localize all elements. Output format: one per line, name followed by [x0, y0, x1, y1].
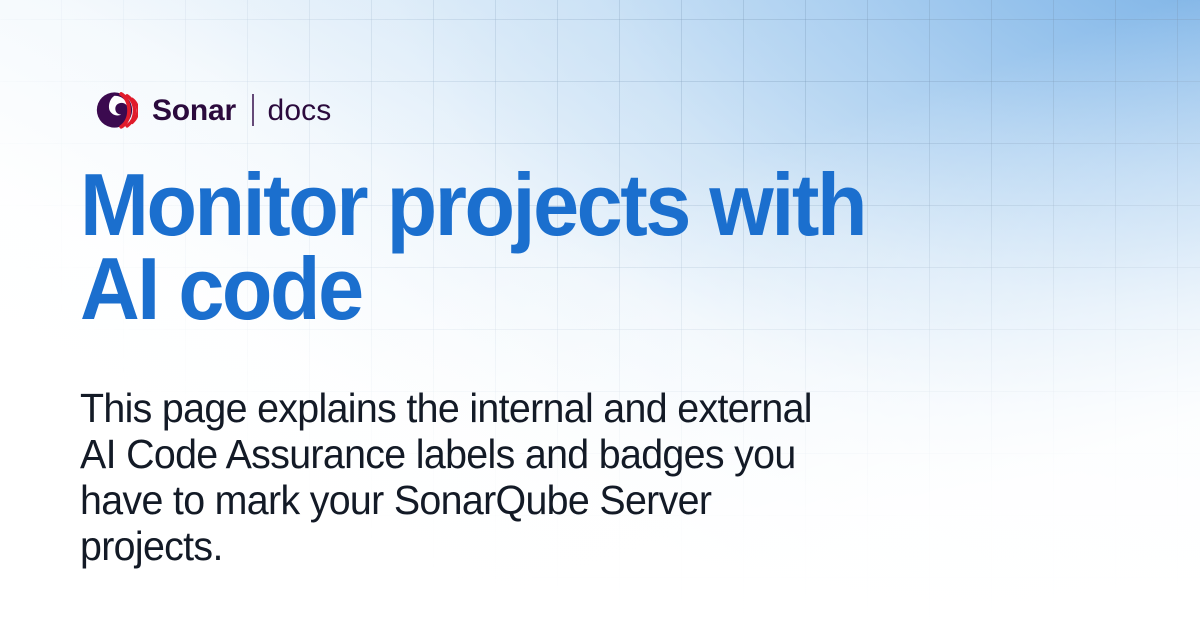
sonar-logo-icon	[96, 89, 138, 131]
social-card: Sonar docs Monitor projects with AI code…	[0, 0, 1200, 630]
brand-section-label: docs	[268, 96, 332, 126]
page-description: This page explains the internal and exte…	[80, 386, 858, 570]
page-title: Monitor projects with AI code	[80, 163, 1029, 332]
brand-divider	[252, 94, 254, 126]
brand-wordmark: Sonar	[152, 96, 236, 126]
card-content: Sonar docs Monitor projects with AI code…	[0, 0, 1200, 630]
brand-lockup[interactable]: Sonar docs	[96, 88, 331, 132]
